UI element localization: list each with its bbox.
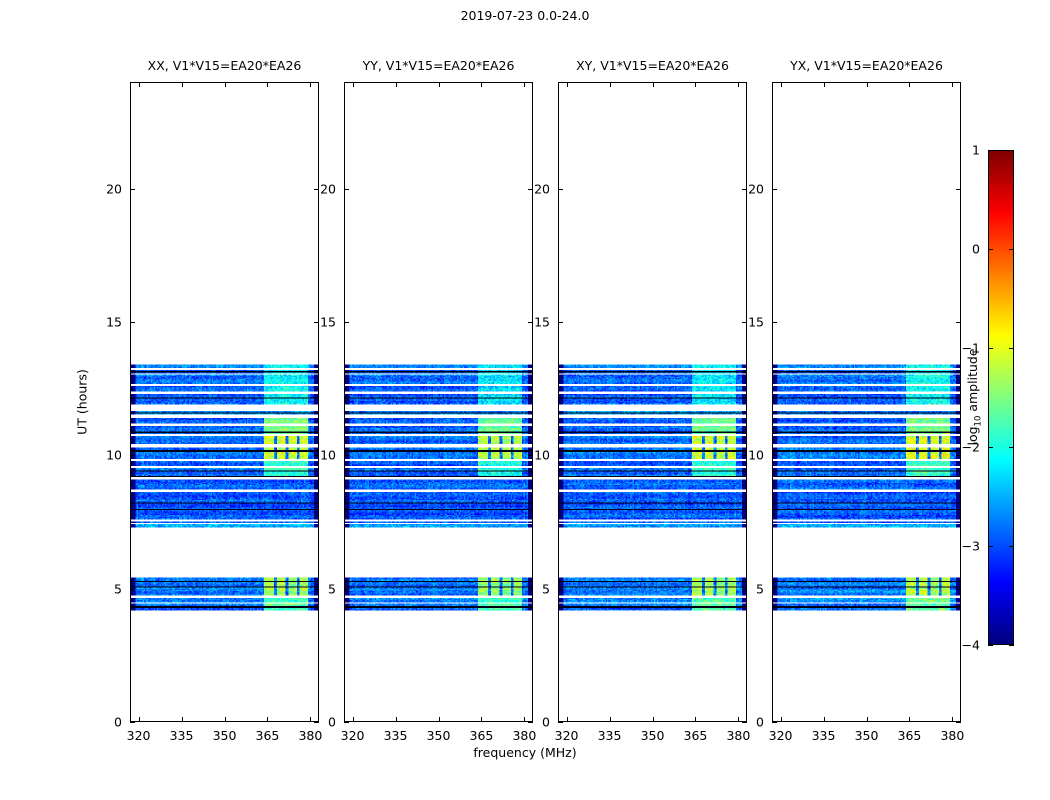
- x-tick-label: 320: [769, 728, 793, 743]
- y-tick-label: 5: [756, 581, 764, 596]
- y-tick: [558, 322, 563, 323]
- y-tick: [956, 455, 961, 456]
- panel-xx[interactable]: XX, V1*V15=EA20*EA2632033535036538005101…: [130, 82, 319, 722]
- panel-title-yy: YY, V1*V15=EA20*EA26: [363, 58, 515, 73]
- y-tick: [344, 589, 349, 590]
- x-tick: [396, 82, 397, 87]
- y-tick-label: 0: [114, 715, 122, 730]
- y-tick: [314, 589, 319, 590]
- x-tick: [567, 82, 568, 87]
- x-tick-label: 350: [427, 728, 451, 743]
- y-tick: [772, 189, 777, 190]
- y-tick: [314, 455, 319, 456]
- x-tick: [653, 82, 654, 87]
- y-tick: [344, 189, 349, 190]
- x-tick: [353, 82, 354, 87]
- x-tick: [139, 717, 140, 722]
- y-tick: [742, 322, 747, 323]
- y-tick: [130, 189, 135, 190]
- x-tick: [267, 717, 268, 722]
- y-tick-label: 10: [534, 448, 550, 463]
- y-tick: [742, 589, 747, 590]
- x-tick: [610, 82, 611, 87]
- colorbar-tick: [1009, 546, 1014, 547]
- x-tick: [653, 717, 654, 722]
- y-tick: [344, 322, 349, 323]
- colorbar-tick-label: −3: [962, 539, 980, 554]
- panel-frame-yy: [344, 82, 533, 722]
- x-tick: [867, 82, 868, 87]
- colorbar-tick-label: 0: [972, 242, 980, 257]
- y-tick: [742, 189, 747, 190]
- y-tick-label: 20: [534, 181, 550, 196]
- y-tick: [772, 455, 777, 456]
- colorbar-tick: [988, 348, 993, 349]
- y-tick-label: 0: [756, 715, 764, 730]
- y-tick: [314, 189, 319, 190]
- y-tick-label: 15: [106, 315, 122, 330]
- y-tick: [130, 589, 135, 590]
- x-tick-label: 335: [812, 728, 836, 743]
- waterfall-image-yx: [773, 83, 960, 721]
- y-tick: [528, 722, 533, 723]
- colorbar: −4−3−2−101: [988, 150, 1014, 645]
- x-tick: [524, 717, 525, 722]
- x-tick: [439, 82, 440, 87]
- x-tick-label: 365: [898, 728, 922, 743]
- colorbar-tick: [988, 645, 993, 646]
- x-tick-label: 350: [213, 728, 237, 743]
- y-tick-label: 20: [106, 181, 122, 196]
- y-tick: [956, 322, 961, 323]
- x-tick: [824, 82, 825, 87]
- x-tick-label: 380: [512, 728, 536, 743]
- figure-canvas: 2019-07-23 0.0-24.0 XX, V1*V15=EA20*EA26…: [0, 0, 1050, 800]
- y-tick-label: 0: [542, 715, 550, 730]
- colorbar-label-subscript: 10: [973, 416, 983, 427]
- panel-title-yx: YX, V1*V15=EA20*EA26: [790, 58, 943, 73]
- panel-yy[interactable]: YY, V1*V15=EA20*EA2632033535036538005101…: [344, 82, 533, 722]
- x-tick: [824, 717, 825, 722]
- x-tick-label: 350: [641, 728, 665, 743]
- y-tick: [528, 589, 533, 590]
- y-tick-label: 5: [542, 581, 550, 596]
- waterfall-image-xy: [559, 83, 746, 721]
- panel-frame-xx: [130, 82, 319, 722]
- x-tick: [567, 717, 568, 722]
- colorbar-tick: [1009, 150, 1014, 151]
- colorbar-tick: [1009, 249, 1014, 250]
- x-tick: [481, 717, 482, 722]
- y-tick: [130, 722, 135, 723]
- y-axis-label: UT (hours): [75, 369, 90, 435]
- waterfall-image-xx: [131, 83, 318, 721]
- y-tick: [528, 189, 533, 190]
- x-tick: [738, 82, 739, 87]
- y-tick: [314, 722, 319, 723]
- x-tick: [182, 717, 183, 722]
- x-tick-label: 335: [170, 728, 194, 743]
- y-tick: [772, 722, 777, 723]
- x-tick-label: 380: [298, 728, 322, 743]
- y-tick-label: 10: [748, 448, 764, 463]
- y-tick-label: 20: [320, 181, 336, 196]
- y-tick-label: 15: [748, 315, 764, 330]
- x-tick-label: 350: [855, 728, 879, 743]
- y-tick: [528, 322, 533, 323]
- colorbar-tick: [1009, 348, 1014, 349]
- x-tick: [310, 82, 311, 87]
- y-tick: [558, 722, 563, 723]
- y-tick-label: 5: [328, 581, 336, 596]
- colorbar-tick-label: −4: [962, 638, 980, 653]
- x-tick: [225, 82, 226, 87]
- figure-suptitle: 2019-07-23 0.0-24.0: [0, 8, 1050, 23]
- y-tick: [314, 322, 319, 323]
- colorbar-label: log10 amplitude: [965, 348, 984, 445]
- waterfall-image-yy: [345, 83, 532, 721]
- y-tick-label: 10: [106, 448, 122, 463]
- panel-title-xy: XY, V1*V15=EA20*EA26: [576, 58, 729, 73]
- x-tick-label: 365: [684, 728, 708, 743]
- y-tick: [956, 189, 961, 190]
- y-tick-label: 0: [328, 715, 336, 730]
- x-tick: [481, 82, 482, 87]
- y-tick: [528, 455, 533, 456]
- y-tick: [558, 189, 563, 190]
- y-tick: [558, 589, 563, 590]
- y-tick: [558, 455, 563, 456]
- x-tick: [267, 82, 268, 87]
- x-tick-label: 380: [940, 728, 964, 743]
- y-tick: [956, 589, 961, 590]
- x-tick-label: 335: [598, 728, 622, 743]
- x-tick: [139, 82, 140, 87]
- y-tick: [772, 589, 777, 590]
- x-tick: [695, 82, 696, 87]
- y-tick-label: 10: [320, 448, 336, 463]
- y-tick: [772, 322, 777, 323]
- y-tick: [130, 455, 135, 456]
- y-tick: [742, 722, 747, 723]
- x-tick: [396, 717, 397, 722]
- x-tick: [610, 717, 611, 722]
- x-tick: [781, 82, 782, 87]
- x-tick-label: 335: [384, 728, 408, 743]
- x-tick-label: 320: [555, 728, 579, 743]
- y-tick-label: 15: [534, 315, 550, 330]
- colorbar-tick: [988, 249, 993, 250]
- colorbar-tick-label: 1: [972, 143, 980, 158]
- y-tick-label: 5: [114, 581, 122, 596]
- x-tick: [781, 717, 782, 722]
- colorbar-tick: [988, 546, 993, 547]
- x-tick: [310, 717, 311, 722]
- colorbar-gradient: [989, 151, 1013, 644]
- panel-yx[interactable]: YX, V1*V15=EA20*EA2632033535036538005101…: [772, 82, 961, 722]
- x-tick: [439, 717, 440, 722]
- x-tick: [353, 717, 354, 722]
- panel-title-xx: XX, V1*V15=EA20*EA26: [148, 58, 302, 73]
- y-tick-label: 15: [320, 315, 336, 330]
- y-tick-label: 20: [748, 181, 764, 196]
- colorbar-tick: [988, 150, 993, 151]
- x-tick: [909, 82, 910, 87]
- x-tick-label: 380: [726, 728, 750, 743]
- y-tick: [956, 722, 961, 723]
- x-tick: [524, 82, 525, 87]
- x-tick: [909, 717, 910, 722]
- x-tick: [225, 717, 226, 722]
- x-tick: [695, 717, 696, 722]
- panel-xy[interactable]: XY, V1*V15=EA20*EA2632033535036538005101…: [558, 82, 747, 722]
- panel-frame-xy: [558, 82, 747, 722]
- colorbar-tick: [988, 447, 993, 448]
- y-tick: [344, 722, 349, 723]
- x-tick: [182, 82, 183, 87]
- x-tick-label: 320: [341, 728, 365, 743]
- x-tick: [738, 717, 739, 722]
- x-tick-label: 365: [470, 728, 494, 743]
- y-tick: [344, 455, 349, 456]
- x-tick: [952, 82, 953, 87]
- colorbar-tick: [1009, 645, 1014, 646]
- y-tick: [130, 322, 135, 323]
- x-axis-label: frequency (MHz): [0, 745, 1050, 760]
- y-tick: [742, 455, 747, 456]
- x-tick-label: 320: [127, 728, 151, 743]
- colorbar-tick: [1009, 447, 1014, 448]
- x-tick: [952, 717, 953, 722]
- panel-frame-yx: [772, 82, 961, 722]
- colorbar-frame: [988, 150, 1014, 645]
- x-tick-label: 365: [256, 728, 280, 743]
- x-tick: [867, 717, 868, 722]
